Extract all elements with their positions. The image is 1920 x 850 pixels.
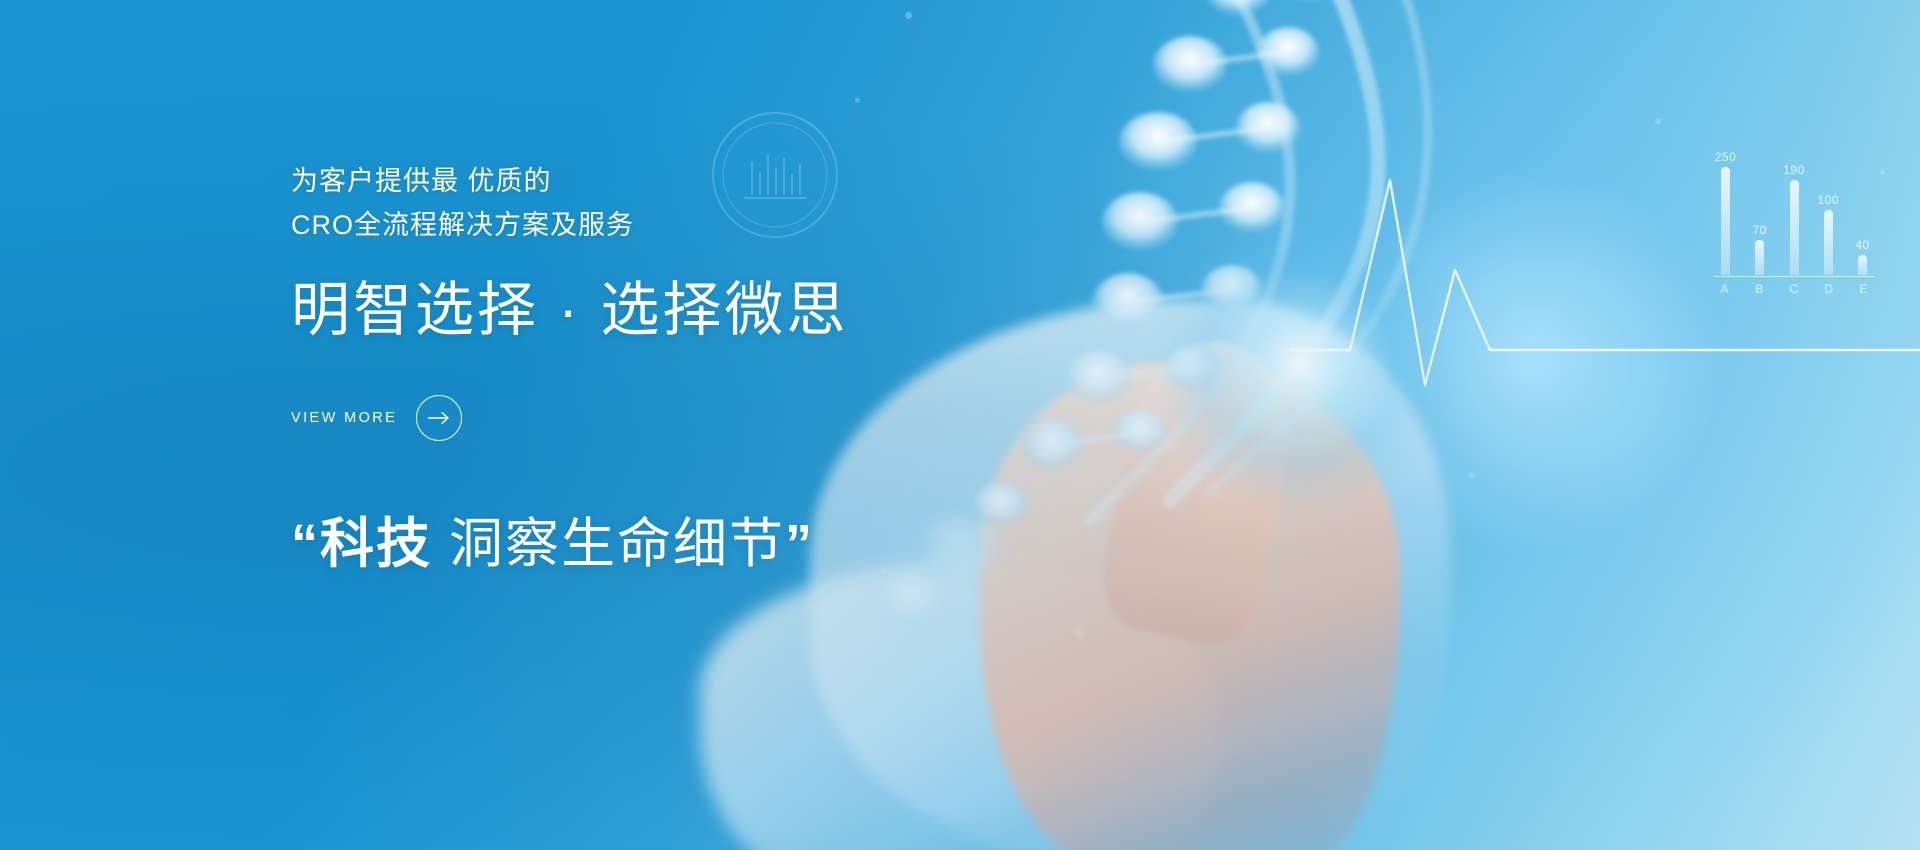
category-label: A: [1718, 282, 1731, 296]
bokeh-dot: [1880, 170, 1885, 175]
bokeh-dot: [1468, 472, 1475, 479]
hero-banner: 250 70 190 100 40 A B C: [0, 0, 1920, 850]
hero-headline: 明智选择 · 选择微思: [291, 278, 991, 343]
bokeh-dot: [1655, 118, 1661, 124]
bar-value: 70: [1753, 223, 1767, 237]
hero-content: 为客户提供最 优质的 CRO全流程解决方案及服务 明智选择 · 选择微思 VIE…: [291, 160, 991, 578]
quote-emphasis: 科技: [320, 514, 432, 574]
bar-value: 190: [1783, 163, 1805, 177]
quote-rest: 洞察生命细节: [432, 514, 785, 574]
bar: [1858, 255, 1867, 275]
bar-column: 250: [1720, 150, 1731, 275]
bar-chart: 250 70 190 100 40 A B C: [1714, 150, 1874, 315]
bokeh-dot: [855, 98, 860, 103]
category-label: B: [1753, 282, 1766, 296]
bokeh-dot: [1075, 628, 1084, 637]
arrow-right-icon[interactable]: [416, 395, 462, 441]
category-label: E: [1857, 282, 1870, 296]
category-label: D: [1822, 282, 1835, 296]
view-more-button[interactable]: VIEW MORE: [291, 395, 991, 441]
bar: [1755, 240, 1764, 275]
bar-column: 190: [1789, 150, 1800, 275]
hero-subtitle-line1: 为客户提供最 优质的: [291, 160, 991, 204]
bar-chart-categories: A B C D E: [1714, 277, 1874, 296]
bar-value: 250: [1715, 150, 1737, 164]
category-label: C: [1788, 282, 1801, 296]
bar-column: 100: [1823, 150, 1834, 275]
bar-column: 70: [1754, 150, 1765, 275]
bar-value: 100: [1817, 193, 1839, 207]
bar: [1824, 210, 1833, 275]
hero-subtitle-line2: CRO全流程解决方案及服务: [291, 204, 991, 248]
bar-column: 40: [1857, 150, 1868, 275]
bar-value: 40: [1855, 238, 1869, 252]
view-more-label: VIEW MORE: [291, 410, 397, 426]
bar-chart-bars: 250 70 190 100 40: [1714, 150, 1874, 275]
bar: [1721, 167, 1730, 275]
hero-quote: “科技 洞察生命细节”: [291, 499, 991, 578]
bokeh-dot: [905, 12, 912, 19]
quote-open-mark: “: [291, 514, 320, 574]
bar: [1790, 180, 1799, 275]
quote-close-mark: ”: [785, 514, 814, 574]
hero-subtitle: 为客户提供最 优质的 CRO全流程解决方案及服务: [291, 160, 991, 247]
